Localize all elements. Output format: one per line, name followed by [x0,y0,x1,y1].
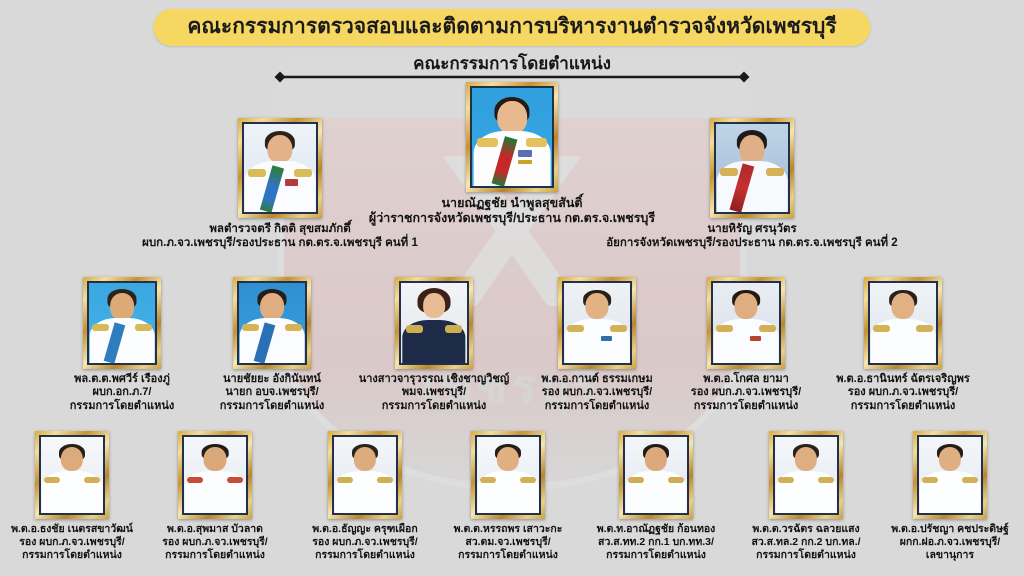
portrait-frame [35,431,109,519]
portrait-photo [870,283,936,363]
person-row3-1[interactable]: พ.ต.อ.ธงชัย เนตรสขาวัฒน์ รอง ผบก.ภ.จว.เพ… [0,431,156,561]
person-caption: พล.ต.ต.พศวีร์ เรืองภู่ ผบก.อก.ภ.7/ กรรมก… [39,373,205,413]
person-name: นายหิรัญ ศรนุวัตร [582,222,922,236]
person-name: พ.ต.อ.สุพมาส บัวลาด [139,523,291,536]
portrait-inner [623,435,689,515]
person-line2: รอง ผบก.ภ.จว.เพชรบุรี/ [808,386,998,399]
portrait-inner [399,281,469,365]
portrait-photo [401,283,467,363]
portrait-photo [713,283,779,363]
person-line2: รอง ผบก.ภ.จว.เพชรบุรี/ [285,536,445,549]
person-line3: กรรมการโดยตำแหน่ง [808,400,998,413]
person-caption: พ.ต.ท.อาณัฏฐชัย ก้อนทอง สว.ส.ทท.2 กก.1 บ… [568,523,744,561]
portrait-photo [716,124,788,212]
portrait-photo [239,283,305,363]
portrait-inner [917,435,983,515]
portrait-frame [466,82,558,192]
portrait-photo [334,437,396,513]
person-row3-7[interactable]: พ.ต.อ.ปรัชญา คชประดิษฐ์ ผกก.ฝอ.ภ.จว.เพชร… [867,431,1024,561]
portrait-inner [237,281,307,365]
portrait-frame [707,277,785,369]
portrait-photo [184,437,246,513]
page-title: คณะกรรมการตรวจสอบและติดตามการบริหารงานตำ… [187,14,836,39]
person-row3-2[interactable]: พ.ต.อ.สุพมาส บัวลาด รอง ผบก.ภ.จว.เพชรบุร… [139,431,291,561]
portrait-inner [242,122,318,214]
person-line3: กรรมการโดยตำแหน่ง [568,549,744,562]
portrait-frame [83,277,161,369]
person-line2: พมจ.เพชรบุรี/ [339,386,529,399]
person-line3: กรรมการโดยตำแหน่ง [432,549,584,562]
portrait-frame [395,277,473,369]
person-line3: กรรมการโดยตำแหน่ง [0,549,156,562]
person-row3-6[interactable]: พ.ต.ต.วรฉัตร ฉลวยแสง สว.ส.ทล.2 กก.2 บก.ท… [725,431,887,561]
portrait-photo [564,283,630,363]
person-row2-3[interactable]: นางสาวจารุวรรณ เชิงชาญวิชญ์ พมจ.เพชรบุรี… [339,277,529,413]
person-caption: พ.ต.อ.สุพมาส บัวลาด รอง ผบก.ภ.จว.เพชรบุร… [139,523,291,561]
person-caption: พ.ต.อ.ปรัชญา คชประดิษฐ์ ผกก.ฝอ.ภ.จว.เพชร… [867,523,1024,561]
portrait-frame [233,277,311,369]
person-line2: รอง ผบก.ภ.จว.เพชรบุรี/ [0,536,156,549]
person-line2: ผบก.อก.ภ.7/ [39,386,205,399]
person-name: พ.ต.ต.วรฉัตร ฉลวยแสง [725,523,887,536]
page-title-pill: คณะกรรมการตรวจสอบและติดตามการบริหารงานตำ… [153,9,870,46]
portrait-inner [711,281,781,365]
portrait-inner [868,281,938,365]
person-line2: สว.ตม.จว.เพชรบุรี/ [432,536,584,549]
person-line3: กรรมการโดยตำแหน่ง [725,549,887,562]
person-name: พ.ต.อ.ธานินทร์ ฉัตรเจริญพร [808,373,998,386]
person-name: นางสาวจารุวรรณ เชิงชาญวิชญ์ [339,373,529,386]
portrait-inner [562,281,632,365]
person-caption: พ.ต.ต.หรรถพร เสาวะกะ สว.ตม.จว.เพชรบุรี/ … [432,523,584,561]
portrait-photo [477,437,539,513]
person-line2: นายก อบจ.เพชรบุรี/ [189,386,355,399]
person-row2-6[interactable]: พ.ต.อ.ธานินทร์ ฉัตรเจริญพร รอง ผบก.ภ.จว.… [808,277,998,413]
person-name: พ.ต.ต.หรรถพร เสาวะกะ [432,523,584,536]
person-vice-chair-1[interactable]: พลตำรวจตรี กิตติ สุขสมภักตึ์ ผบก.ภ.จว.เพ… [115,118,445,250]
person-caption: พ.ต.อ.ธานินทร์ ฉัตรเจริญพร รอง ผบก.ภ.จว.… [808,373,998,413]
person-line3: กรรมการโดยตำแหน่ง [139,549,291,562]
portrait-frame [864,277,942,369]
portrait-frame [619,431,693,519]
person-name: พลตำรวจตรี กิตติ สุขสมภักตึ์ [115,222,445,236]
person-vice-chair-2[interactable]: นายหิรัญ ศรนุวัตร อัยการจังหวัดเพชรบุรี/… [582,118,922,250]
portrait-photo [625,437,687,513]
portrait-photo [919,437,981,513]
person-line2: สว.ส.ทท.2 กก.1 บก.ทท.3/ [568,536,744,549]
person-line2: รอง ผบก.ภ.จว.เพชรบุรี/ [139,536,291,549]
person-position: อัยการจังหวัดเพชรบุรี/รองประธาน กต.ตร.จ.… [582,236,922,250]
person-line2: สว.ส.ทล.2 กก.2 บก.ทล./ [725,536,887,549]
portrait-photo [89,283,155,363]
person-row2-2[interactable]: นายชัยยะ อังกินันทน์ นายก อบจ.เพชรบุรี/ … [189,277,355,413]
portrait-frame [178,431,252,519]
portrait-inner [773,435,839,515]
person-name: พ.ต.ท.อาณัฏฐชัย ก้อนทอง [568,523,744,536]
portrait-frame [913,431,987,519]
person-line3: กรรมการโดยตำแหน่ง [285,549,445,562]
portrait-photo [472,88,552,186]
person-position: ผบก.ภ.จว.เพชรบุรี/รองประธาน กต.ตร.จ.เพชร… [115,236,445,250]
portrait-photo [775,437,837,513]
person-row3-5[interactable]: พ.ต.ท.อาณัฏฐชัย ก้อนทอง สว.ส.ทท.2 กก.1 บ… [568,431,744,561]
person-row3-3[interactable]: พ.ต.อ.ธัญญะ ครุฑเผือก รอง ผบก.ภ.จว.เพชรบ… [285,431,445,561]
section-subtitle: คณะกรรมการโดยตำแหน่ง [0,50,1024,77]
portrait-frame [238,118,322,218]
portrait-inner [39,435,105,515]
portrait-frame [328,431,402,519]
person-caption: พลตำรวจตรี กิตติ สุขสมภักตึ์ ผบก.ภ.จว.เพ… [115,222,445,250]
person-name: พ.ต.อ.ธัญญะ ครุฑเผือก [285,523,445,536]
person-name: นายชัยยะ อังกินันทน์ [189,373,355,386]
portrait-inner [87,281,157,365]
portrait-frame [710,118,794,218]
person-caption: นางสาวจารุวรรณ เชิงชาญวิชญ์ พมจ.เพชรบุรี… [339,373,529,413]
portrait-inner [332,435,398,515]
person-name: พ.ต.อ.ธงชัย เนตรสขาวัฒน์ [0,523,156,536]
portrait-inner [475,435,541,515]
person-caption: พ.ต.อ.ธัญญะ ครุฑเผือก รอง ผบก.ภ.จว.เพชรบ… [285,523,445,561]
portrait-inner [182,435,248,515]
person-line3: กรรมการโดยตำแหน่ง [189,400,355,413]
portrait-inner [470,86,554,188]
person-caption: นายชัยยะ อังกินันทน์ นายก อบจ.เพชรบุรี/ … [189,373,355,413]
portrait-frame [558,277,636,369]
person-caption: พ.ต.ต.วรฉัตร ฉลวยแสง สว.ส.ทล.2 กก.2 บก.ท… [725,523,887,561]
person-row3-4[interactable]: พ.ต.ต.หรรถพร เสาวะกะ สว.ตม.จว.เพชรบุรี/ … [432,431,584,561]
person-name: พล.ต.ต.พศวีร์ เรืองภู่ [39,373,205,386]
person-name: พ.ต.อ.ปรัชญา คชประดิษฐ์ [867,523,1024,536]
person-caption: นายหิรัญ ศรนุวัตร อัยการจังหวัดเพชรบุรี/… [582,222,922,250]
person-line3: กรรมการโดยตำแหน่ง [339,400,529,413]
portrait-inner [714,122,790,214]
person-line3: กรรมการโดยตำแหน่ง [39,400,205,413]
person-line2: ผกก.ฝอ.ภ.จว.เพชรบุรี/ [867,536,1024,549]
portrait-frame [769,431,843,519]
person-row2-1[interactable]: พล.ต.ต.พศวีร์ เรืองภู่ ผบก.อก.ภ.7/ กรรมก… [39,277,205,413]
person-line3: เลขานุการ [867,549,1024,562]
portrait-photo [244,124,316,212]
person-caption: พ.ต.อ.ธงชัย เนตรสขาวัฒน์ รอง ผบก.ภ.จว.เพ… [0,523,156,561]
portrait-frame [471,431,545,519]
portrait-photo [41,437,103,513]
